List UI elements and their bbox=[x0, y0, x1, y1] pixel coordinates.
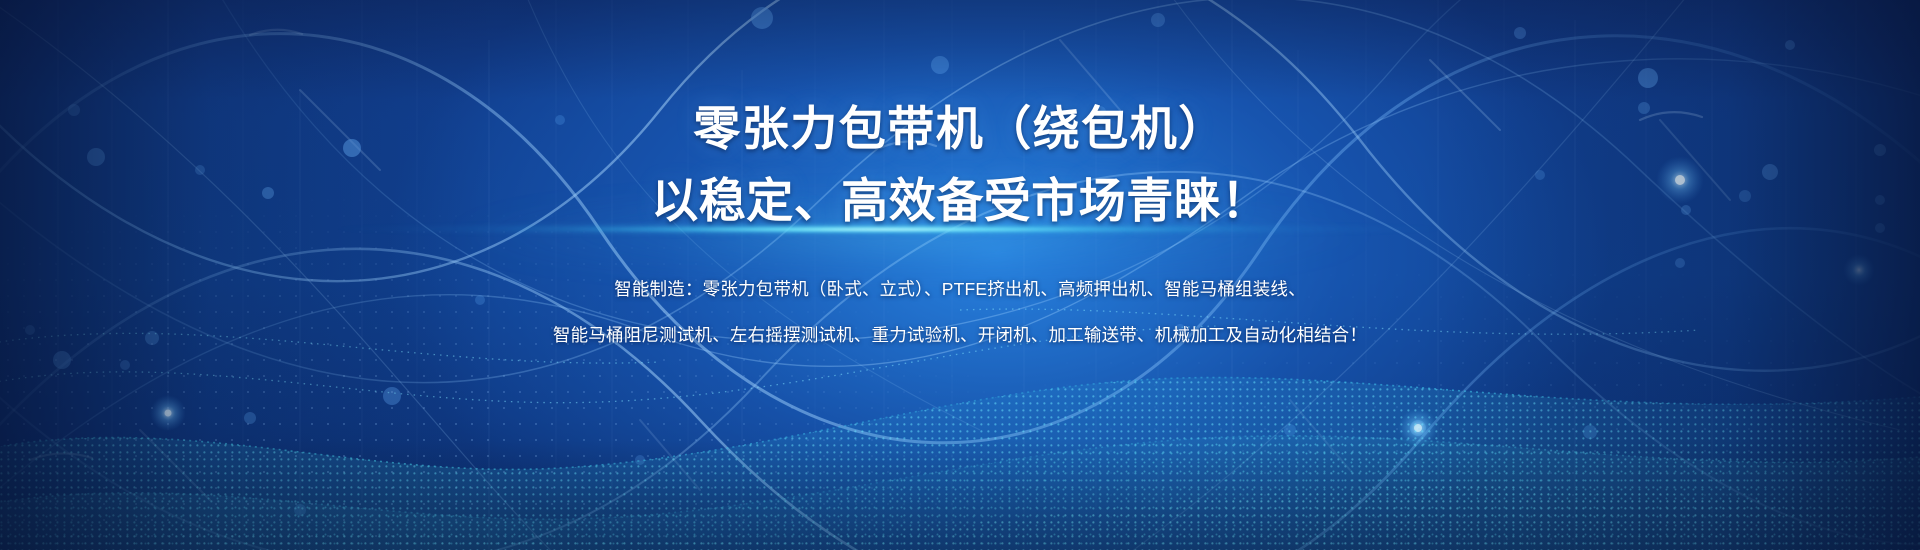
headline-line-2: 以稳定、高效备受市场青睐！ bbox=[651, 168, 1269, 234]
hero-banner: 零张力包带机（绕包机） 以稳定、高效备受市场青睐！ 智能制造：零张力包带机（卧式… bbox=[0, 0, 1920, 550]
subtitle-line-2: 智能马桶阻尼测试机、左右摇摆测试机、重力试验机、开闭机、加工输送带、机械加工及自… bbox=[553, 320, 1367, 350]
headline-line-1: 零张力包带机（绕包机） bbox=[693, 96, 1227, 162]
subtitle-line-1: 智能制造：零张力包带机（卧式、立式）、PTFE挤出机、高频押出机、智能马桶组装线… bbox=[614, 274, 1306, 304]
banner-content: 零张力包带机（绕包机） 以稳定、高效备受市场青睐！ 智能制造：零张力包带机（卧式… bbox=[0, 0, 1920, 550]
